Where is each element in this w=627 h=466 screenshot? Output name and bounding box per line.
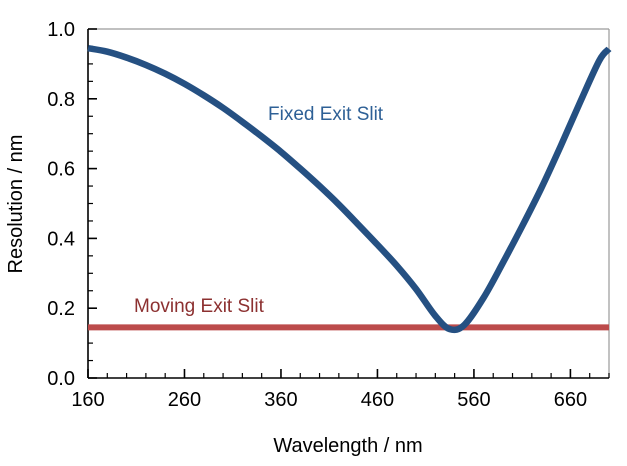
y-axis-tick-label: 0.0 (47, 368, 75, 390)
x-axis-tick-label: 160 (71, 389, 104, 411)
y-axis-title: Resolution / nm (5, 135, 27, 274)
chart-container: 0.00.20.40.60.81.0 160260360460560660 Fi… (0, 0, 627, 466)
y-axis-tick-label: 0.2 (47, 298, 75, 320)
x-axis-tick-label: 560 (457, 389, 490, 411)
series-label-fixed-exit-slit: Fixed Exit Slit (268, 104, 384, 125)
x-axis-tick-label: 260 (168, 389, 201, 411)
resolution-vs-wavelength-chart: 0.00.20.40.60.81.0 160260360460560660 Fi… (0, 0, 627, 466)
x-axis-tick-label: 360 (264, 389, 297, 411)
y-axis-tick-label: 1.0 (47, 19, 75, 41)
series-label-moving-exit-slit: Moving Exit Slit (134, 296, 265, 317)
y-axis-tick-label: 0.6 (47, 159, 75, 181)
x-axis-title: Wavelength / nm (273, 435, 422, 457)
y-axis-tick-label: 0.4 (47, 228, 75, 250)
y-axis-tick-label: 0.8 (47, 89, 75, 111)
x-axis-tick-label: 460 (361, 389, 394, 411)
x-axis-tick-label: 660 (554, 389, 587, 411)
